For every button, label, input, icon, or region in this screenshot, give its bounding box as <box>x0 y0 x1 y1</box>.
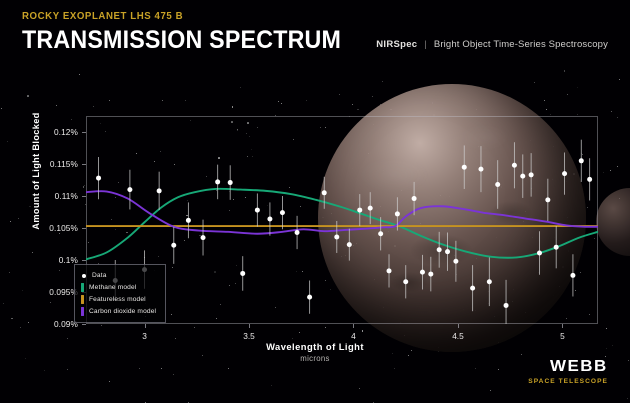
legend-item-label: Data <box>92 272 107 279</box>
star <box>101 325 102 326</box>
webb-logo-subtitle: SPACE TELESCOPE <box>528 378 608 385</box>
data-point <box>267 217 272 222</box>
data-point <box>334 234 339 239</box>
legend-item: Carbon dioxide model <box>81 306 156 317</box>
figure-root: Rocky Exoplanet LHS 475 b Transmission S… <box>0 0 630 403</box>
star <box>240 87 241 88</box>
star <box>271 385 272 386</box>
x-axis-tick-mark <box>353 324 354 328</box>
star <box>490 390 491 391</box>
data-point <box>554 245 559 250</box>
data-point <box>412 196 417 201</box>
star <box>339 94 340 95</box>
data-point <box>295 230 300 235</box>
star <box>67 338 68 339</box>
star <box>175 338 176 339</box>
x-axis-tick-label: 4 <box>333 331 373 341</box>
data-point <box>322 190 327 195</box>
legend-item: Data <box>81 270 156 281</box>
star <box>20 327 21 328</box>
star <box>139 368 140 369</box>
data-point <box>437 247 442 252</box>
data-point <box>357 208 362 213</box>
star <box>577 114 578 115</box>
data-point <box>579 158 584 163</box>
star <box>56 105 57 106</box>
star <box>546 109 547 110</box>
legend-item-label: Methane model <box>89 284 136 291</box>
x-axis-tick-mark <box>249 324 250 328</box>
star <box>50 302 51 303</box>
star <box>83 186 85 188</box>
star <box>22 290 23 291</box>
star <box>11 318 13 320</box>
star <box>232 106 234 108</box>
data-point <box>478 167 483 172</box>
data-point <box>347 242 352 247</box>
star <box>544 100 545 101</box>
x-axis-tick-label: 3.5 <box>229 331 269 341</box>
star <box>59 270 60 271</box>
star <box>603 172 604 173</box>
star <box>382 81 383 82</box>
star <box>306 100 307 101</box>
y-axis-tick-label: 0.09% <box>22 319 78 329</box>
star <box>281 103 282 104</box>
legend-marker-dot-icon <box>82 274 86 278</box>
data-point <box>201 235 206 240</box>
star <box>93 106 94 107</box>
data-point <box>520 174 525 179</box>
data-point <box>504 303 509 308</box>
star <box>359 388 360 389</box>
data-point <box>228 180 233 185</box>
star <box>161 368 162 369</box>
data-point <box>395 211 400 216</box>
data-point <box>487 279 492 284</box>
data-point <box>512 163 517 168</box>
header: Rocky Exoplanet LHS 475 b Transmission S… <box>22 10 365 54</box>
star <box>292 338 293 339</box>
star <box>28 322 29 323</box>
star <box>357 109 359 111</box>
data-point <box>171 243 176 248</box>
data-point <box>570 273 575 278</box>
data-point <box>529 172 534 177</box>
data-point <box>420 270 425 275</box>
instrument-caption: NIRSpec | Bright Object Time-Series Spec… <box>376 39 608 50</box>
data-point <box>445 249 450 254</box>
star <box>619 79 620 80</box>
data-point <box>368 206 373 211</box>
star <box>9 272 10 273</box>
x-axis-tick-label: 3 <box>125 331 165 341</box>
star <box>617 117 618 118</box>
star <box>71 119 72 120</box>
star <box>550 114 551 115</box>
star <box>173 374 174 375</box>
data-point <box>378 231 383 236</box>
data-series-group <box>96 140 592 324</box>
instrument-separator: | <box>424 39 426 50</box>
legend-item-label: Featureless model <box>89 296 146 303</box>
star <box>577 87 578 88</box>
star <box>10 221 11 222</box>
star <box>44 370 45 371</box>
data-point <box>562 171 567 176</box>
legend-item: Featureless model <box>81 294 156 305</box>
star <box>610 170 611 171</box>
star <box>325 327 326 328</box>
legend-item-label: Carbon dioxide model <box>89 308 156 315</box>
exoplanet-limb-fragment <box>596 188 630 256</box>
data-point <box>387 268 392 273</box>
data-point <box>537 250 542 255</box>
legend-marker-line-icon <box>81 283 84 292</box>
star <box>188 402 189 403</box>
data-point <box>127 187 132 192</box>
data-point <box>453 259 458 264</box>
data-point <box>495 182 500 187</box>
data-point <box>307 295 312 300</box>
data-point <box>255 208 260 213</box>
x-axis-tick-label: 5 <box>542 331 582 341</box>
star <box>498 369 499 370</box>
instrument-mode: Bright Object Time-Series Spectroscopy <box>434 39 608 50</box>
star <box>109 100 110 101</box>
data-point <box>470 286 475 291</box>
star <box>79 74 80 75</box>
chart-legend: DataMethane modelFeatureless modelCarbon… <box>74 264 166 323</box>
star <box>18 218 19 219</box>
star <box>362 330 364 332</box>
star <box>194 327 195 328</box>
star <box>394 368 395 369</box>
instrument-name: NIRSpec <box>376 39 417 50</box>
legend-marker-line-icon <box>81 307 84 316</box>
star <box>67 369 68 370</box>
star <box>1 108 2 109</box>
star <box>372 96 373 97</box>
x-axis-tick-mark <box>562 324 563 328</box>
data-point <box>215 179 220 184</box>
data-point <box>96 176 101 181</box>
legend-marker-line-icon <box>81 295 84 304</box>
star <box>611 111 612 112</box>
star <box>627 398 628 399</box>
star <box>59 233 60 234</box>
star <box>27 95 29 97</box>
star <box>109 381 110 382</box>
data-point <box>186 218 191 223</box>
data-point <box>462 165 467 170</box>
star <box>278 101 279 102</box>
legend-item: Methane model <box>81 282 156 293</box>
data-point <box>587 177 592 182</box>
y-axis-tick-label: 0.095% <box>22 287 78 297</box>
star <box>228 368 229 369</box>
page-title: Transmission Spectrum <box>22 26 341 54</box>
star <box>185 100 186 101</box>
star <box>534 82 536 84</box>
data-point <box>403 279 408 284</box>
star <box>3 303 4 304</box>
y-axis-title: Amount of Light Blocked <box>31 81 41 261</box>
star <box>567 94 568 95</box>
star <box>352 104 353 105</box>
star <box>564 70 566 72</box>
star <box>7 141 8 142</box>
data-point <box>240 271 245 276</box>
x-axis-tick-mark <box>145 324 146 328</box>
data-point <box>280 210 285 215</box>
y-axis-tick-mark <box>82 324 86 325</box>
eyebrow-subject: Rocky Exoplanet LHS 475 b <box>22 10 338 22</box>
data-point <box>428 272 433 277</box>
model-line-carbon-dioxide-model <box>86 191 598 234</box>
star <box>475 368 476 369</box>
x-axis-title-main: Wavelength of Light <box>0 341 630 352</box>
star <box>299 332 300 333</box>
model-line-methane-model <box>86 189 598 260</box>
data-point <box>157 188 162 193</box>
star <box>162 100 163 101</box>
star <box>606 328 607 329</box>
star <box>617 166 618 167</box>
webb-logo: WEBB SPACE TELESCOPE <box>528 359 608 385</box>
webb-logo-wordmark: WEBB <box>523 359 608 375</box>
data-point <box>545 197 550 202</box>
